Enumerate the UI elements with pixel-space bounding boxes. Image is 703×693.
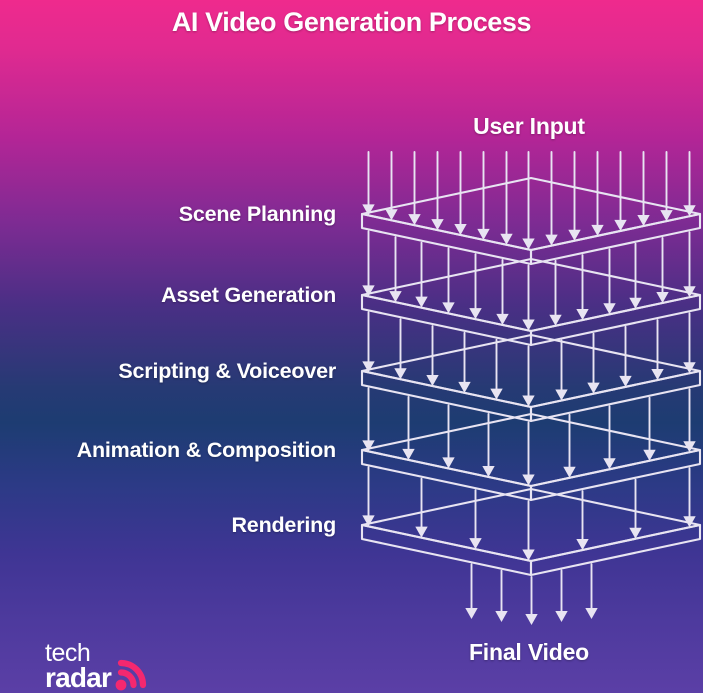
flow-arrow-4-5 <box>629 480 641 539</box>
flow-arrow-1-8 <box>576 255 588 320</box>
layer-right-face-4 <box>531 525 700 575</box>
output-arrow-0 <box>465 564 477 619</box>
flow-arrow-0-3 <box>431 152 443 230</box>
output-arrow-1-head <box>495 611 507 622</box>
flow-arrow-1-9 <box>603 249 615 314</box>
layer-label-rendering: Rendering <box>231 510 336 540</box>
flow-arrow-4-0 <box>362 467 374 526</box>
layer-left-face-2 <box>362 371 531 421</box>
flow-arrow-3-7 <box>643 398 655 461</box>
flow-arrow-2-6 <box>555 341 567 401</box>
flow-arrow-2-7 <box>587 334 599 394</box>
flow-arrow-2-1 <box>394 319 406 379</box>
output-arrow-3-head <box>555 611 567 622</box>
flow-arrow-0-7 <box>522 152 534 249</box>
output-arrow-4 <box>585 564 597 619</box>
arrows-into-layer-0 <box>362 152 695 249</box>
flow-arrow-3-2 <box>442 405 454 468</box>
output-arrow-1 <box>495 571 507 622</box>
flow-arrow-0-2 <box>408 152 420 225</box>
flow-arrow-3-0 <box>362 388 374 451</box>
diagram-canvas: AI Video Generation Process User Input F… <box>0 0 703 693</box>
flow-arrow-0-13 <box>660 152 672 221</box>
flow-arrow-3-4 <box>522 422 534 485</box>
flow-arrow-1-12 <box>683 232 695 297</box>
layer-label-scene-planning: Scene Planning <box>179 199 336 229</box>
layer-left-face-4 <box>362 525 531 575</box>
layer-slab-1 <box>362 259 700 345</box>
output-arrow-2-head <box>525 614 537 625</box>
flow-arrow-2-10 <box>683 313 695 373</box>
final-video-label: Final Video <box>399 637 659 667</box>
flow-arrow-0-1 <box>385 152 397 220</box>
flow-arrow-1-3 <box>442 248 454 313</box>
flow-arrow-0-14 <box>683 152 695 216</box>
flow-arrow-0-9 <box>568 152 580 241</box>
layer-right-face-2 <box>531 371 700 421</box>
flow-arrow-4-1 <box>415 479 427 538</box>
layer-right-face-3 <box>531 450 700 500</box>
logo-radar-text: radar <box>45 662 112 692</box>
flow-arrow-2-9 <box>651 320 663 380</box>
flow-arrow-1-11 <box>656 238 668 303</box>
flow-arrow-0-0 <box>362 152 374 215</box>
page-title: AI Video Generation Process <box>0 2 703 42</box>
flow-arrow-0-8 <box>545 152 557 246</box>
flow-arrow-1-0 <box>362 231 374 296</box>
flow-arrow-1-4 <box>469 254 481 319</box>
techradar-logo: tech radar <box>45 640 195 692</box>
flow-arrow-3-8 <box>683 389 695 452</box>
flow-arrow-0-12 <box>637 152 649 226</box>
techradar-wordmark: tech radar <box>45 640 112 692</box>
flow-arrow-1-7 <box>549 261 561 326</box>
flow-arrow-3-1 <box>402 397 414 460</box>
output-arrow-0-head <box>465 608 477 619</box>
user-input-label: User Input <box>399 111 659 141</box>
flow-arrow-2-0 <box>362 312 374 372</box>
output-arrow-4-head <box>585 608 597 619</box>
isometric-layers-svg <box>0 0 703 693</box>
flow-arrow-1-5 <box>496 260 508 325</box>
radar-wave-icon <box>116 663 143 690</box>
flow-arrow-1-2 <box>415 243 427 308</box>
flow-arrow-0-11 <box>614 152 626 231</box>
output-arrow-2 <box>525 577 537 625</box>
flow-arrow-1-10 <box>629 244 641 309</box>
layer-slab-4 <box>362 489 700 575</box>
layer-label-scripting-voiceover: Scripting & Voiceover <box>118 356 336 386</box>
output-arrow-3 <box>555 571 567 622</box>
flow-arrow-4-6 <box>683 468 695 527</box>
flow-arrow-4-3 <box>522 501 534 560</box>
flow-arrow-2-4 <box>490 340 502 400</box>
flow-arrow-0-6 <box>500 152 512 245</box>
flow-arrow-2-3 <box>458 333 470 393</box>
layer-label-asset-generation: Asset Generation <box>161 280 336 310</box>
flow-arrow-2-5 <box>522 346 534 406</box>
flow-arrow-0-5 <box>477 152 489 240</box>
flow-arrow-1-1 <box>389 237 401 302</box>
flow-arrow-1-6 <box>522 265 534 330</box>
flow-arrow-3-6 <box>603 406 615 469</box>
flow-arrow-3-5 <box>563 415 575 478</box>
layer-label-animation-composition: Animation & Composition <box>77 435 336 465</box>
